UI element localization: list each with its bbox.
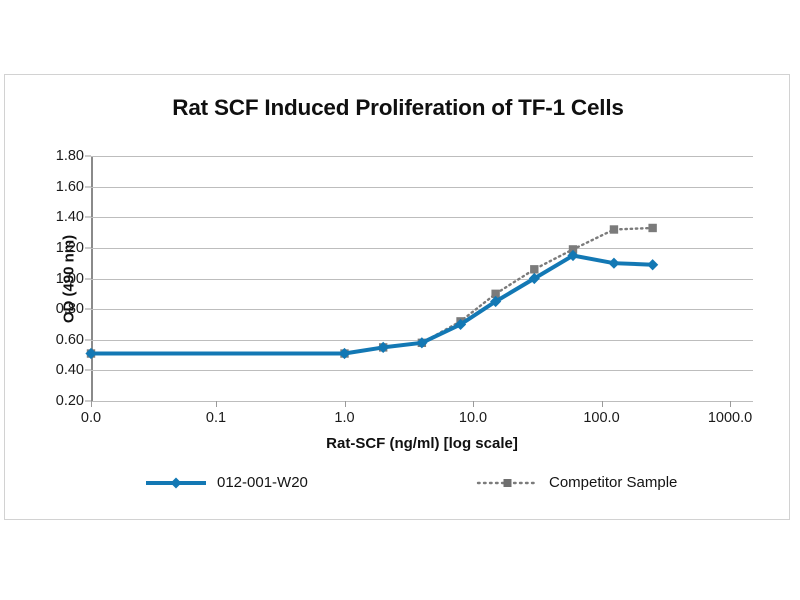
x-axis-tick-label: 0.0 — [81, 410, 101, 426]
chart-title: Rat SCF Induced Proliferation of TF-1 Ce… — [5, 95, 791, 121]
series-0 — [85, 250, 658, 359]
y-axis-tick-label: 1.40 — [56, 209, 84, 225]
x-axis-title: Rat-SCF (ng/ml) [log scale] — [91, 435, 753, 452]
y-axis-tick-label: 0.20 — [56, 393, 84, 409]
legend-item-series-0[interactable]: 012-001-W20 — [144, 474, 308, 491]
legend-swatch-solid-line-diamond — [144, 475, 208, 491]
x-axis-tick-label: 10.0 — [459, 410, 487, 426]
y-axis-tick-label: 1.80 — [56, 148, 84, 164]
legend-swatch-dotted-line-square — [476, 475, 540, 491]
gridline — [91, 401, 753, 402]
legend-label-series-0: 012-001-W20 — [217, 474, 308, 491]
y-axis-tick-label: 0.80 — [56, 301, 84, 317]
legend-label-series-1: Competitor Sample — [549, 474, 677, 491]
x-axis-tick-mark — [730, 401, 731, 407]
y-axis-tick-label: 1.60 — [56, 179, 84, 195]
x-axis-tick-label: 1000.0 — [708, 410, 752, 426]
plot-area: OD (490 nm) 0.200.400.600.801.001.201.40… — [91, 156, 753, 401]
x-axis-tick-mark — [91, 401, 92, 407]
legend-item-series-1[interactable]: Competitor Sample — [476, 474, 677, 491]
y-axis-tick-label: 1.00 — [56, 271, 84, 287]
x-axis-tick-mark — [216, 401, 217, 407]
chart-frame: Rat SCF Induced Proliferation of TF-1 Ce… — [4, 74, 790, 520]
x-axis-tick-mark — [602, 401, 603, 407]
x-axis-tick-label: 100.0 — [583, 410, 619, 426]
x-axis-tick-label: 0.1 — [206, 410, 226, 426]
x-axis-tick-label: 1.0 — [334, 410, 354, 426]
y-axis-tick-label: 0.60 — [56, 332, 84, 348]
x-axis-tick-mark — [345, 401, 346, 407]
x-axis-tick-mark — [473, 401, 474, 407]
y-axis-tick-label: 1.20 — [56, 240, 84, 256]
y-axis-tick-label: 0.40 — [56, 362, 84, 378]
chart-legend: 012-001-W20 Competitor Sample — [4, 466, 790, 508]
series-1 — [87, 224, 657, 358]
series-plot — [91, 156, 753, 401]
figure-root: Rat SCF Induced Proliferation of TF-1 Ce… — [0, 0, 800, 600]
